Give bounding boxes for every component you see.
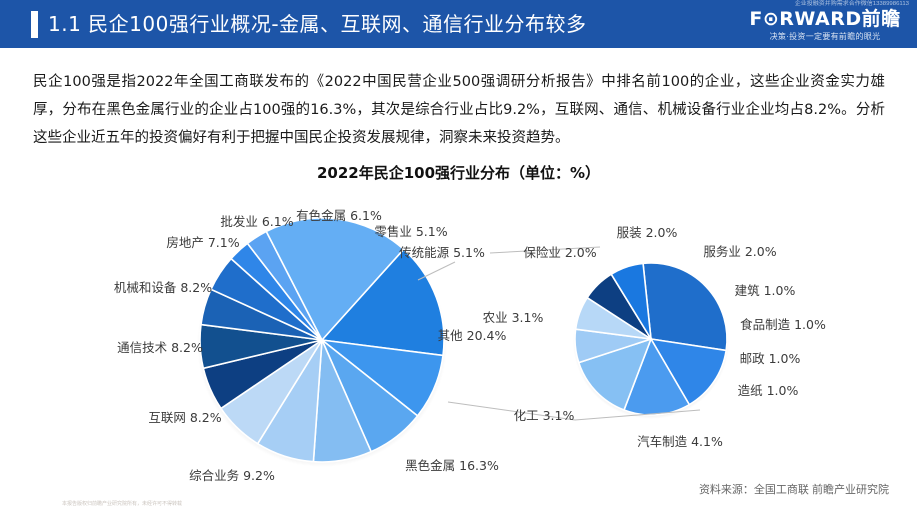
secondary-pie-slice-label: 食品制造 1.0% <box>740 317 826 332</box>
main-pie-slice-label: 化工 3.1% <box>514 408 575 423</box>
main-pie-slice-label: 通信技术 8.2% <box>117 340 203 355</box>
secondary-pie-slice-label: 建筑 1.0% <box>735 283 796 298</box>
main-pie-slice-label: 黑色金属 16.3% <box>405 458 499 473</box>
main-pie-slice-label: 有色金属 6.1% <box>296 208 382 223</box>
bottom-copyright-note: 本报告版权归前瞻产业研究院所有，未经许可不得转载 <box>62 500 182 507</box>
secondary-pie-slice-label: 服务业 2.0% <box>703 244 776 259</box>
main-pie-slice-label: 零售业 5.1% <box>374 224 447 239</box>
brand-logo: F⊙RWARD前瞻 决策·投资一定要有前瞻的眼光 <box>745 9 905 43</box>
main-pie-slice-label: 互联网 8.2% <box>148 410 221 425</box>
page-title: 1.1 民企100强行业概况-金属、互联网、通信行业分布较多 <box>48 9 587 39</box>
secondary-pie <box>575 263 727 415</box>
secondary-pie-slice[interactable] <box>643 263 727 350</box>
header-accent-bar <box>31 11 38 38</box>
main-pie-slice-label: 综合业务 9.2% <box>189 468 275 483</box>
secondary-pie-slice-label: 邮政 1.0% <box>740 351 801 366</box>
main-pie-slice-label: 传统能源 5.1% <box>399 245 485 260</box>
secondary-pie-slice-label: 保险业 2.0% <box>523 245 596 260</box>
intro-paragraph: 民企100强是指2022年全国工商联发布的《2022中国民营企业500强调研分析… <box>33 68 885 152</box>
brand-tagline: 决策·投资一定要有前瞻的眼光 <box>745 31 905 43</box>
main-pie-slice-label: 其他 20.4% <box>438 328 507 343</box>
brand-wordmark: F⊙RWARD前瞻 <box>745 9 905 30</box>
pie-of-pie-chart: 黑色金属 16.3%综合业务 9.2%互联网 8.2%通信技术 8.2%机械和设… <box>0 152 917 492</box>
source-note: 资料来源：全国工商联 前瞻产业研究院 <box>699 481 889 497</box>
main-pie-slice-label: 批发业 6.1% <box>220 214 293 229</box>
secondary-pie-slice-label: 服装 2.0% <box>617 225 678 240</box>
page-header: 1.1 民企100强行业概况-金属、互联网、通信行业分布较多 企业投融资并购需求… <box>0 0 917 48</box>
secondary-pie-slice-label: 汽车制造 4.1% <box>637 434 723 449</box>
main-pie-slice-label: 机械和设备 8.2% <box>114 280 212 295</box>
main-pie-slice-label: 房地产 7.1% <box>166 235 239 250</box>
main-pie-slice-label: 农业 3.1% <box>483 310 544 325</box>
chart-container: 2022年民企100强行业分布（单位：%） 黑色金属 16.3%综合业务 9.2… <box>0 152 917 492</box>
secondary-pie-slice-label: 造纸 1.0% <box>738 383 799 398</box>
